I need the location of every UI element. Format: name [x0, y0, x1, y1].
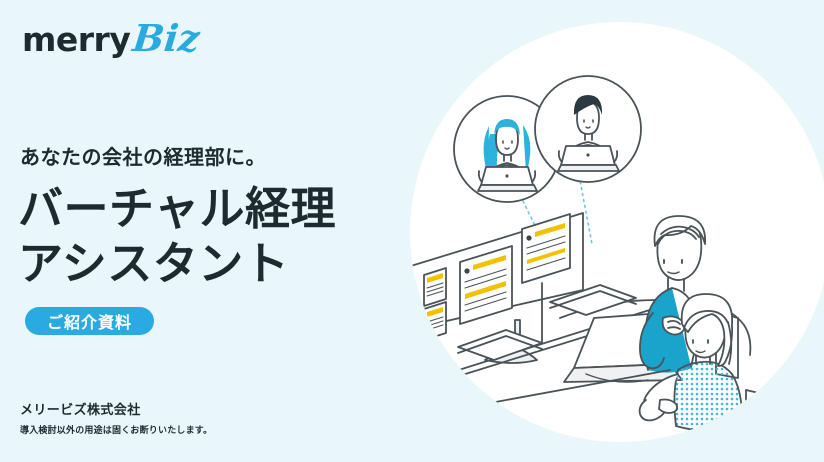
logo[interactable]: merry Biz: [22, 20, 200, 64]
logo-text-biz: Biz: [131, 20, 201, 57]
company-name: メリービズ株式会社: [20, 399, 141, 418]
document-card: [424, 302, 446, 340]
document-card: [424, 268, 446, 306]
illustration-remote-accounting-team: [410, 22, 824, 442]
remote-worker-male-avatar: [535, 76, 641, 182]
desk-front-edge: [430, 370, 670, 414]
logo-text-merry: merry: [22, 23, 130, 56]
page-title-line-1: バーチャル経理: [18, 182, 336, 237]
page-title-line-2: アシスタント: [18, 237, 336, 292]
usage-disclaimer: 導入検討以外の用途は固くお断りいたします。: [20, 423, 212, 436]
page-title: バーチャル経理 アシスタント: [18, 182, 336, 292]
status-badge: ご紹介資料: [25, 307, 154, 335]
slide-root: merry Biz あなたの会社の経理部に。 バーチャル経理 アシスタント ご紹…: [0, 0, 824, 462]
hero-subtitle: あなたの会社の経理部に。: [20, 141, 266, 170]
